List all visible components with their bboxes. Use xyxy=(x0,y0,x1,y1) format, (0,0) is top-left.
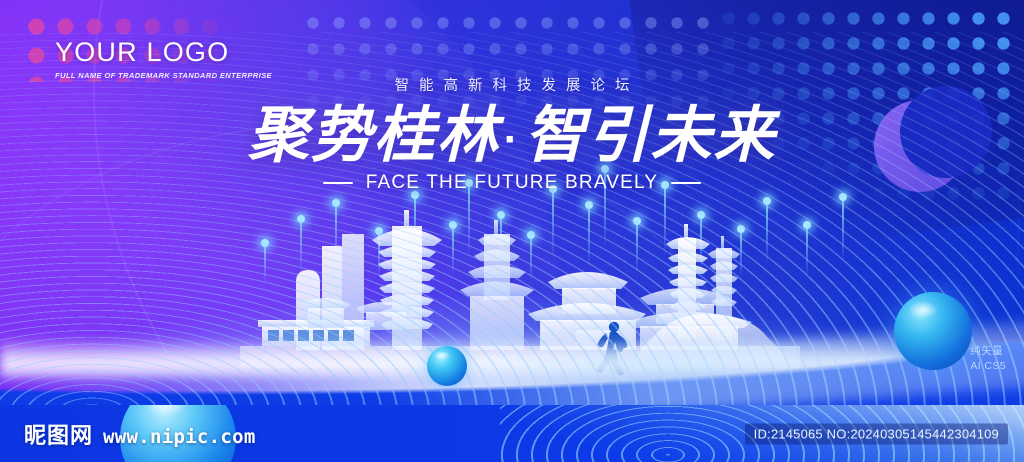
light-pole-icon xyxy=(664,186,666,256)
english-subtitle-text: FACE THE FUTURE BRAVELY xyxy=(366,172,659,194)
page-title: 聚势桂林·智引未来 xyxy=(0,101,1024,169)
light-pole-icon xyxy=(842,198,844,262)
headline-block: 智能高新科技发展论坛 聚势桂林·智引未来 FACE THE FUTURE BRA… xyxy=(0,74,1024,194)
light-pole-icon xyxy=(300,220,302,274)
chinese-subtitle: 智能高新科技发展论坛 xyxy=(0,74,1024,95)
rule-left-icon xyxy=(323,182,353,184)
watermark-site-cn: 昵图网 xyxy=(24,418,93,450)
horizon-glow xyxy=(0,210,1024,400)
light-pole-icon xyxy=(636,222,638,274)
vector-note-line1: 纯矢量 xyxy=(970,344,1006,359)
light-pole-icon xyxy=(700,216,702,272)
title-part-2: 智引未来 xyxy=(524,101,776,169)
light-pole-icon xyxy=(552,190,554,258)
light-pole-icon xyxy=(588,206,590,266)
light-pole-icon xyxy=(500,216,502,272)
city-skyline xyxy=(0,208,1024,388)
logo-name: YOUR LOGO xyxy=(55,38,272,66)
light-pole-icon xyxy=(530,236,532,280)
watermark-bar: 昵图网 www.nipic.com ID:2145065 NO:20240305… xyxy=(0,405,1024,462)
light-pole-icon xyxy=(468,184,470,256)
light-pole-icon xyxy=(264,244,266,284)
title-separator: · xyxy=(500,115,525,164)
watermark-brand[interactable]: 昵图网 www.nipic.com xyxy=(24,418,256,450)
light-pole-icon xyxy=(740,230,742,278)
banner-root: YOUR LOGO FULL NAME OF TRADEMARK STANDAR… xyxy=(0,0,1024,462)
english-subtitle: FACE THE FUTURE BRAVELY xyxy=(0,172,1024,194)
watermark-site-url: www.nipic.com xyxy=(103,426,256,448)
light-pole-icon xyxy=(806,226,808,276)
runner-silhouette-icon xyxy=(592,320,632,378)
light-pole-icon xyxy=(378,232,380,278)
light-pole-icon xyxy=(766,202,768,264)
vector-note-line2: AI CS5 xyxy=(970,359,1006,374)
light-pole-icon xyxy=(335,204,337,266)
rule-right-icon xyxy=(671,182,701,184)
sphere-mid-center xyxy=(427,346,467,386)
sphere-large-right xyxy=(894,292,972,370)
light-pole-icon xyxy=(452,226,454,276)
light-pole-icon xyxy=(414,196,416,262)
horizon-band xyxy=(0,338,1024,378)
watermark-id-text: ID:2145065 NO:20240305145442304109 xyxy=(745,423,1008,444)
vector-note: 纯矢量 AI CS5 xyxy=(970,344,1006,374)
title-part-1: 聚势桂林 xyxy=(248,101,500,169)
